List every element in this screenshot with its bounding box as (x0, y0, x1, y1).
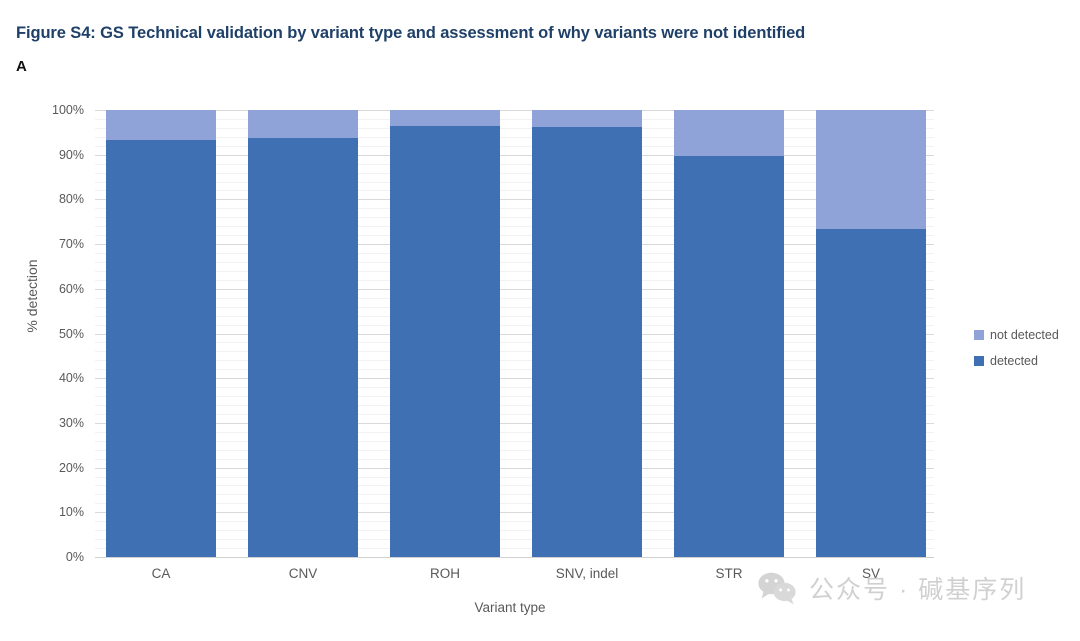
bar-segment-detected[interactable] (816, 229, 926, 557)
gridline-minor (95, 396, 934, 397)
gridline-minor (95, 441, 934, 442)
gridline-minor (95, 280, 934, 281)
gridline-major (95, 199, 934, 200)
gridline-minor (95, 450, 934, 451)
bar-segment-detected[interactable] (532, 127, 642, 557)
y-axis-tick-label: 0% (32, 550, 84, 564)
y-axis-tick-label: 40% (32, 371, 84, 385)
gridline-major (95, 244, 934, 245)
gridline-minor (95, 485, 934, 486)
bar-segment-not-detected[interactable] (106, 110, 216, 140)
gridline-major (95, 423, 934, 424)
gridline-minor (95, 521, 934, 522)
figure-title: Figure S4: GS Technical validation by va… (16, 24, 805, 43)
y-axis-tick-label: 100% (32, 103, 84, 117)
legend: not detecteddetected (974, 328, 1080, 380)
y-axis-tick-label: 80% (32, 192, 84, 206)
panel-letter: A (16, 58, 27, 75)
gridline-major (95, 512, 934, 513)
gridline-minor (95, 477, 934, 478)
gridline-minor (95, 530, 934, 531)
y-axis-tick-label: 60% (32, 282, 84, 296)
gridline-minor (95, 342, 934, 343)
bar-ca[interactable] (106, 110, 216, 557)
gridline-minor (95, 137, 934, 138)
plot-area (95, 110, 934, 557)
gridline-minor (95, 539, 934, 540)
gridline-major (95, 557, 934, 558)
bar-segment-detected[interactable] (248, 138, 358, 557)
bar-segment-not-detected[interactable] (390, 110, 500, 126)
bar-segment-detected[interactable] (390, 126, 500, 557)
gridline-minor (95, 235, 934, 236)
gridline-minor (95, 253, 934, 254)
gridline-major (95, 468, 934, 469)
gridline-minor (95, 405, 934, 406)
y-axis-ticks: 0%10%20%30%40%50%60%70%80%90%100% (24, 110, 84, 557)
x-axis-tick-label: CNV (233, 566, 373, 581)
bar-sv[interactable] (816, 110, 926, 557)
legend-label: not detected (990, 328, 1059, 342)
y-axis-tick-label: 20% (32, 461, 84, 475)
gridline-minor (95, 182, 934, 183)
gridline-minor (95, 146, 934, 147)
gridline-minor (95, 271, 934, 272)
gridline-minor (95, 369, 934, 370)
gridline-minor (95, 298, 934, 299)
legend-swatch (974, 330, 984, 340)
chart-area: % detection 0%10%20%30%40%50%60%70%80%90… (0, 88, 1080, 641)
watermark-text: 公众号 · 碱基序列 (809, 570, 1026, 606)
x-axis-tick-label: CA (91, 566, 231, 581)
y-axis-tick-label: 90% (32, 148, 84, 162)
gridline-minor (95, 164, 934, 165)
gridline-major (95, 110, 934, 111)
gridline-minor (95, 173, 934, 174)
gridline-minor (95, 208, 934, 209)
gridline-major (95, 155, 934, 156)
y-axis-tick-label: 70% (32, 237, 84, 251)
gridline-minor (95, 128, 934, 129)
legend-item[interactable]: detected (974, 354, 1080, 368)
gridline-minor (95, 351, 934, 352)
gridline-minor (95, 387, 934, 388)
bar-cnv[interactable] (248, 110, 358, 557)
gridline-minor (95, 325, 934, 326)
gridline-minor (95, 503, 934, 504)
bar-roh[interactable] (390, 110, 500, 557)
legend-label: detected (990, 354, 1038, 368)
wechat-icon (757, 571, 799, 605)
bar-segment-not-detected[interactable] (816, 110, 926, 229)
legend-item[interactable]: not detected (974, 328, 1080, 342)
gridline-major (95, 378, 934, 379)
gridline-minor (95, 459, 934, 460)
gridline-major (95, 334, 934, 335)
y-axis-tick-label: 30% (32, 416, 84, 430)
gridline-minor (95, 119, 934, 120)
gridline-minor (95, 190, 934, 191)
bar-segment-detected[interactable] (674, 156, 784, 557)
x-axis-tick-label: ROH (375, 566, 515, 581)
x-axis-tick-label: SNV, indel (517, 566, 657, 581)
bar-segment-detected[interactable] (106, 140, 216, 557)
gridline-minor (95, 262, 934, 263)
gridline-minor (95, 360, 934, 361)
bar-snvindel[interactable] (532, 110, 642, 557)
gridline-minor (95, 548, 934, 549)
gridline-minor (95, 316, 934, 317)
bar-str[interactable] (674, 110, 784, 557)
gridline-major (95, 289, 934, 290)
gridline-minor (95, 307, 934, 308)
bar-segment-not-detected[interactable] (248, 110, 358, 138)
bar-segment-not-detected[interactable] (674, 110, 784, 156)
watermark: 公众号 · 碱基序列 (757, 570, 1026, 606)
legend-swatch (974, 356, 984, 366)
gridline-minor (95, 217, 934, 218)
gridline-minor (95, 226, 934, 227)
bar-segment-not-detected[interactable] (532, 110, 642, 127)
gridline-minor (95, 494, 934, 495)
y-axis-tick-label: 10% (32, 505, 84, 519)
gridline-minor (95, 432, 934, 433)
gridline-minor (95, 414, 934, 415)
y-axis-tick-label: 50% (32, 327, 84, 341)
